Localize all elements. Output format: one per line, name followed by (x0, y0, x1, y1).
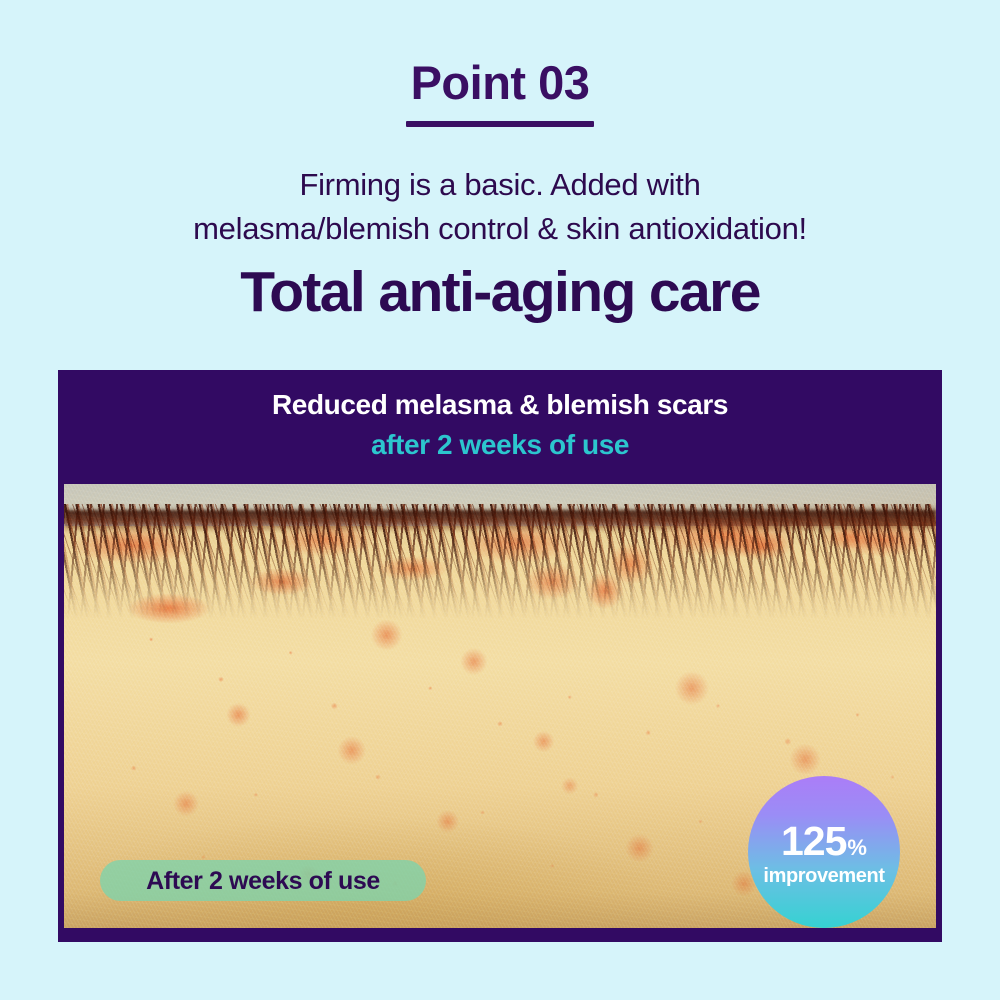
badge-number: 125 (781, 820, 846, 862)
banner-headline: Reduced melasma & blemish scars (58, 387, 942, 423)
result-card: Reduced melasma & blemish scars after 2 … (58, 370, 942, 942)
badge-percent-sign: % (847, 836, 867, 860)
badge-caption: improvement (763, 864, 884, 888)
banner-subheadline: after 2 weeks of use (58, 427, 942, 463)
point-title: Point 03 (0, 55, 1000, 111)
photo-caption-label: After 2 weeks of use (146, 867, 380, 895)
point-title-underline (406, 121, 594, 127)
lede-line-2: melasma/blemish control & skin antioxida… (0, 207, 1000, 251)
improvement-badge: 125 % improvement (748, 776, 900, 928)
point-heading-block: Point 03 (0, 55, 1000, 127)
photo-caption-pill: After 2 weeks of use (100, 860, 426, 901)
promo-page: Point 03 Firming is a basic. Added with … (0, 0, 1000, 1000)
lede-paragraph: Firming is a basic. Added with melasma/b… (0, 163, 1000, 251)
lede-line-1: Firming is a basic. Added with (0, 163, 1000, 207)
page-title: Total anti-aging care (0, 257, 1000, 327)
card-banner: Reduced melasma & blemish scars after 2 … (58, 370, 942, 483)
badge-value-row: 125 % (781, 820, 867, 862)
